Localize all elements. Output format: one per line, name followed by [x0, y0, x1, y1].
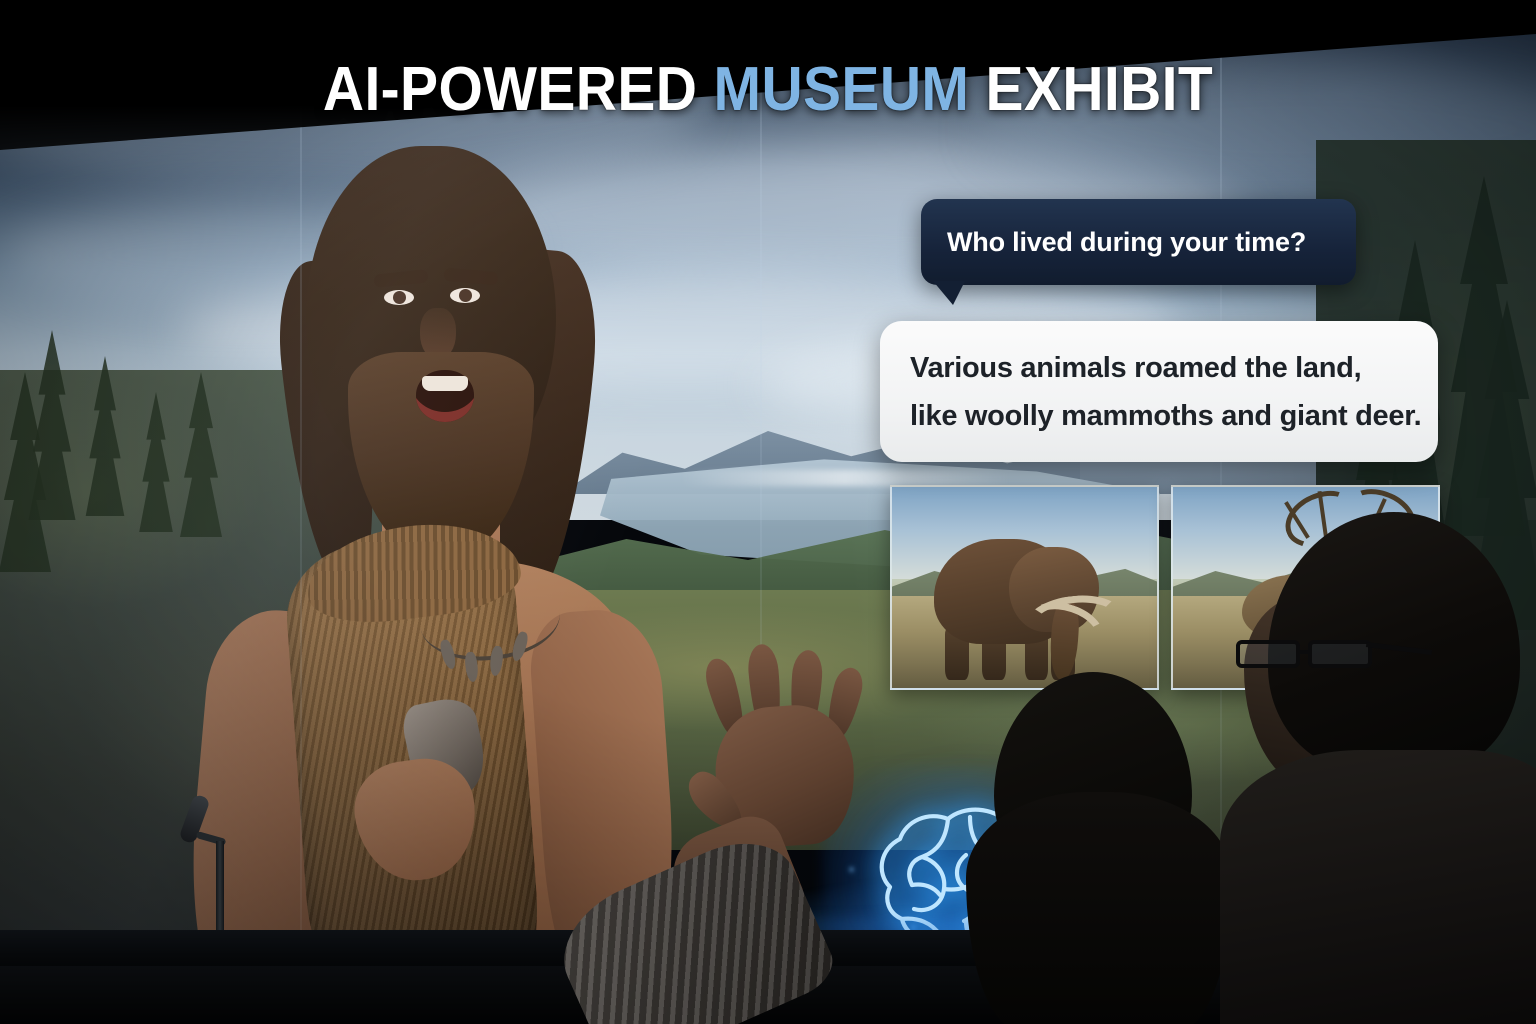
answer-text-highlight: mammoths	[1061, 400, 1213, 432]
visitor-hand	[608, 648, 928, 1024]
answer-text-after: and giant deer.	[1213, 400, 1421, 432]
answer-line-1: Various animals roamed the land,	[910, 344, 1408, 392]
chat-bubble-question[interactable]: Who lived during your time?	[921, 199, 1356, 285]
visitor-right	[1230, 512, 1536, 1024]
title-accent-word: MUSEUM	[714, 55, 970, 124]
title-part-2: EXHIBIT	[969, 55, 1213, 124]
bubble-tail	[933, 281, 965, 305]
exhibit-screenshot: Who lived during your time? Various anim…	[0, 0, 1536, 1024]
visitor-hair	[966, 792, 1232, 1024]
answer-text-before: like woolly	[910, 400, 1061, 432]
title-part-1: AI-POWERED	[323, 55, 714, 124]
answer-line-2: like woolly mammoths and giant deer.	[910, 392, 1408, 440]
panel-mammoth[interactable]	[890, 485, 1159, 690]
eyeglasses-icon	[1236, 640, 1376, 670]
screen-panel-seam	[300, 0, 302, 975]
question-text: Who lived during your time?	[921, 227, 1332, 258]
visitor-body	[1220, 750, 1536, 1024]
chat-bubble-answer[interactable]: Various animals roamed the land, like wo…	[880, 321, 1438, 462]
avatar-eye	[450, 288, 480, 303]
avatar-teeth	[422, 376, 468, 391]
page-title: AI-POWERED MUSEUM EXHIBIT	[0, 52, 1536, 130]
avatar-eye	[384, 290, 414, 305]
visitor-left	[960, 672, 1240, 1024]
